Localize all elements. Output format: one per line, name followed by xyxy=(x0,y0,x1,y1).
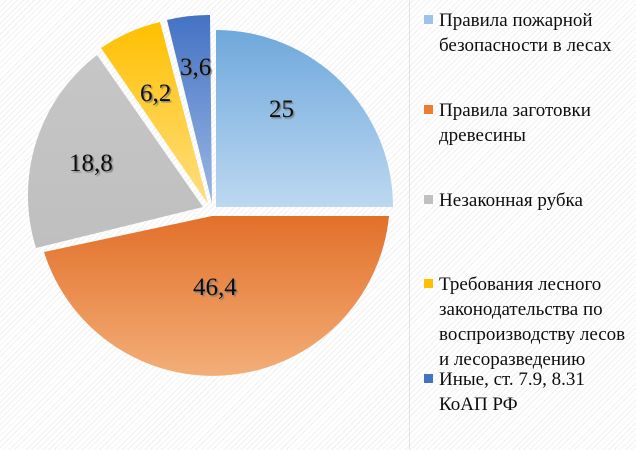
legend-item-2[interactable]: Незаконная рубка xyxy=(424,188,632,213)
data-label-1: 46,4 xyxy=(193,275,237,300)
legend: Правила пожарной безопасности в лесах Пр… xyxy=(410,0,636,450)
legend-item-1[interactable]: Правила заготовки древесины xyxy=(424,98,632,148)
legend-item-0[interactable]: Правила пожарной безопасности в лесах xyxy=(424,8,632,58)
legend-label-3: Требования лесного законодательства по в… xyxy=(439,272,632,372)
plot-area: 25 46,4 18,8 6,2 3,6 xyxy=(0,0,409,450)
legend-label-1: Правила заготовки древесины xyxy=(439,98,632,148)
legend-label-2: Незаконная рубка xyxy=(439,188,632,213)
data-label-2: 18,8 xyxy=(69,151,113,176)
legend-item-4[interactable]: Иные, ст. 7.9, 8.31 КоАП РФ xyxy=(424,367,632,417)
data-label-0: 25 xyxy=(269,97,294,122)
legend-swatch-icon-2 xyxy=(424,195,433,204)
legend-label-0: Правила пожарной безопасности в лесах xyxy=(439,8,632,58)
legend-swatch-icon-0 xyxy=(424,15,433,24)
legend-swatch-icon-3 xyxy=(424,279,433,288)
data-label-3: 6,2 xyxy=(140,81,171,106)
legend-item-3[interactable]: Требования лесного законодательства по в… xyxy=(424,272,632,372)
pie-chart-figure: 25 46,4 18,8 6,2 3,6 Правила пожарной бе… xyxy=(0,0,636,450)
pie-slice-0[interactable] xyxy=(216,30,393,207)
legend-label-4: Иные, ст. 7.9, 8.31 КоАП РФ xyxy=(439,367,632,417)
data-label-4: 3,6 xyxy=(180,55,211,80)
legend-swatch-icon-4 xyxy=(424,374,433,383)
legend-swatch-icon-1 xyxy=(424,105,433,114)
